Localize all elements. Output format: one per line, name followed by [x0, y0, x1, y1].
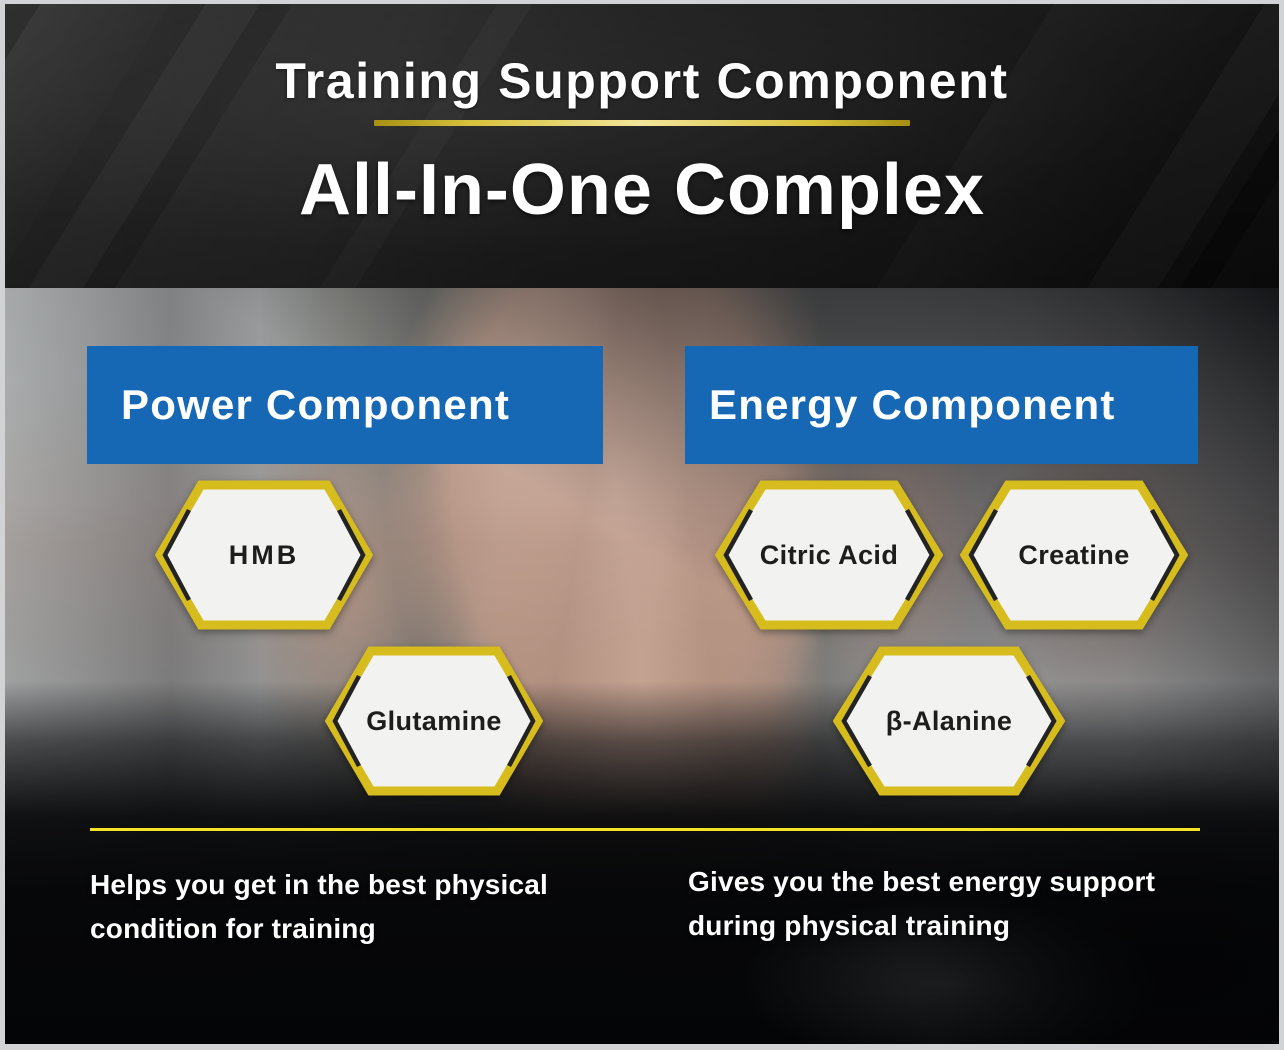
caption-energy: Gives you the best energy support during…	[688, 860, 1228, 948]
ingredient-hex-creatine[interactable]: Creatine	[960, 480, 1188, 630]
header-kicker: Training Support Component	[275, 56, 1008, 106]
page-title: All-In-One Complex	[299, 154, 985, 227]
hexagon-icon	[960, 480, 1188, 630]
ingredient-hex-glutamine[interactable]: Glutamine	[325, 646, 543, 796]
hexagon-icon	[325, 646, 543, 796]
caption-power: Helps you get in the best physical condi…	[90, 863, 630, 951]
band-energy-component: Energy Component	[685, 346, 1198, 464]
band-power-component: Power Component	[87, 346, 603, 464]
poster-header: Training Support Component All-In-One Co…	[5, 4, 1279, 288]
poster-canvas: Training Support Component All-In-One Co…	[0, 0, 1284, 1050]
band-power-label: Power Component	[121, 384, 510, 426]
column-energy-component: Energy Component Citric Acid Creatine	[685, 288, 1198, 1044]
ingredient-hex-citric-acid[interactable]: Citric Acid	[715, 480, 943, 630]
hexagon-icon	[833, 646, 1065, 796]
component-columns: Power Component HMB Glutamine	[5, 288, 1279, 1044]
hexagon-icon	[715, 480, 943, 630]
ingredient-hex-hmb[interactable]: HMB	[155, 480, 373, 630]
header-gold-rule	[374, 120, 910, 126]
column-power-component: Power Component HMB Glutamine	[87, 288, 603, 1044]
band-energy-label: Energy Component	[709, 384, 1116, 426]
hexagon-icon	[155, 480, 373, 630]
ingredient-hex-beta-alanine[interactable]: β-Alanine	[833, 646, 1065, 796]
divider-energy	[688, 828, 1200, 831]
